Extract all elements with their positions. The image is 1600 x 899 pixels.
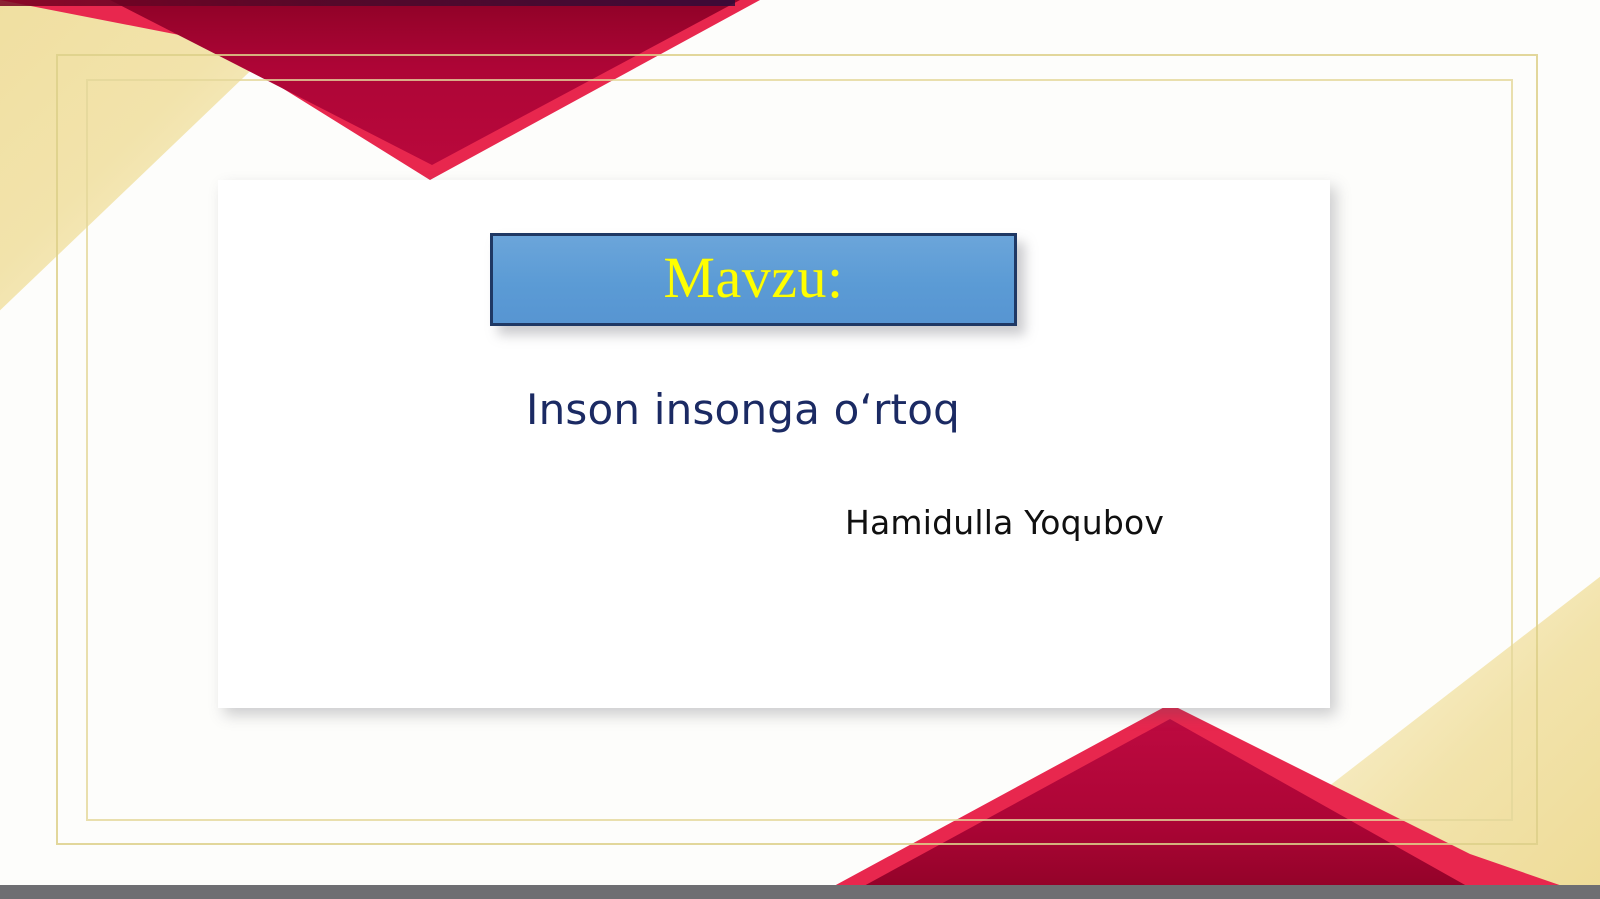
author-name: Hamidulla Yoqubov bbox=[845, 503, 1164, 542]
red-triangle-top-light bbox=[0, 0, 760, 180]
red-triangle-bottom-dark bbox=[840, 719, 1600, 899]
viewer-bottom-bar bbox=[0, 885, 1600, 899]
red-triangle-bottom-light bbox=[810, 704, 1600, 899]
title-banner: Mavzu: bbox=[490, 233, 1017, 326]
presentation-slide: Mavzu: Inson insonga o‘rtoq Hamidulla Yo… bbox=[0, 0, 1600, 899]
slide-subtitle: Inson insonga o‘rtoq bbox=[218, 385, 1268, 434]
top-edge-rim bbox=[0, 0, 735, 6]
red-triangle-top-dark bbox=[0, 0, 740, 165]
slide-title-label: Mavzu: bbox=[663, 249, 843, 307]
